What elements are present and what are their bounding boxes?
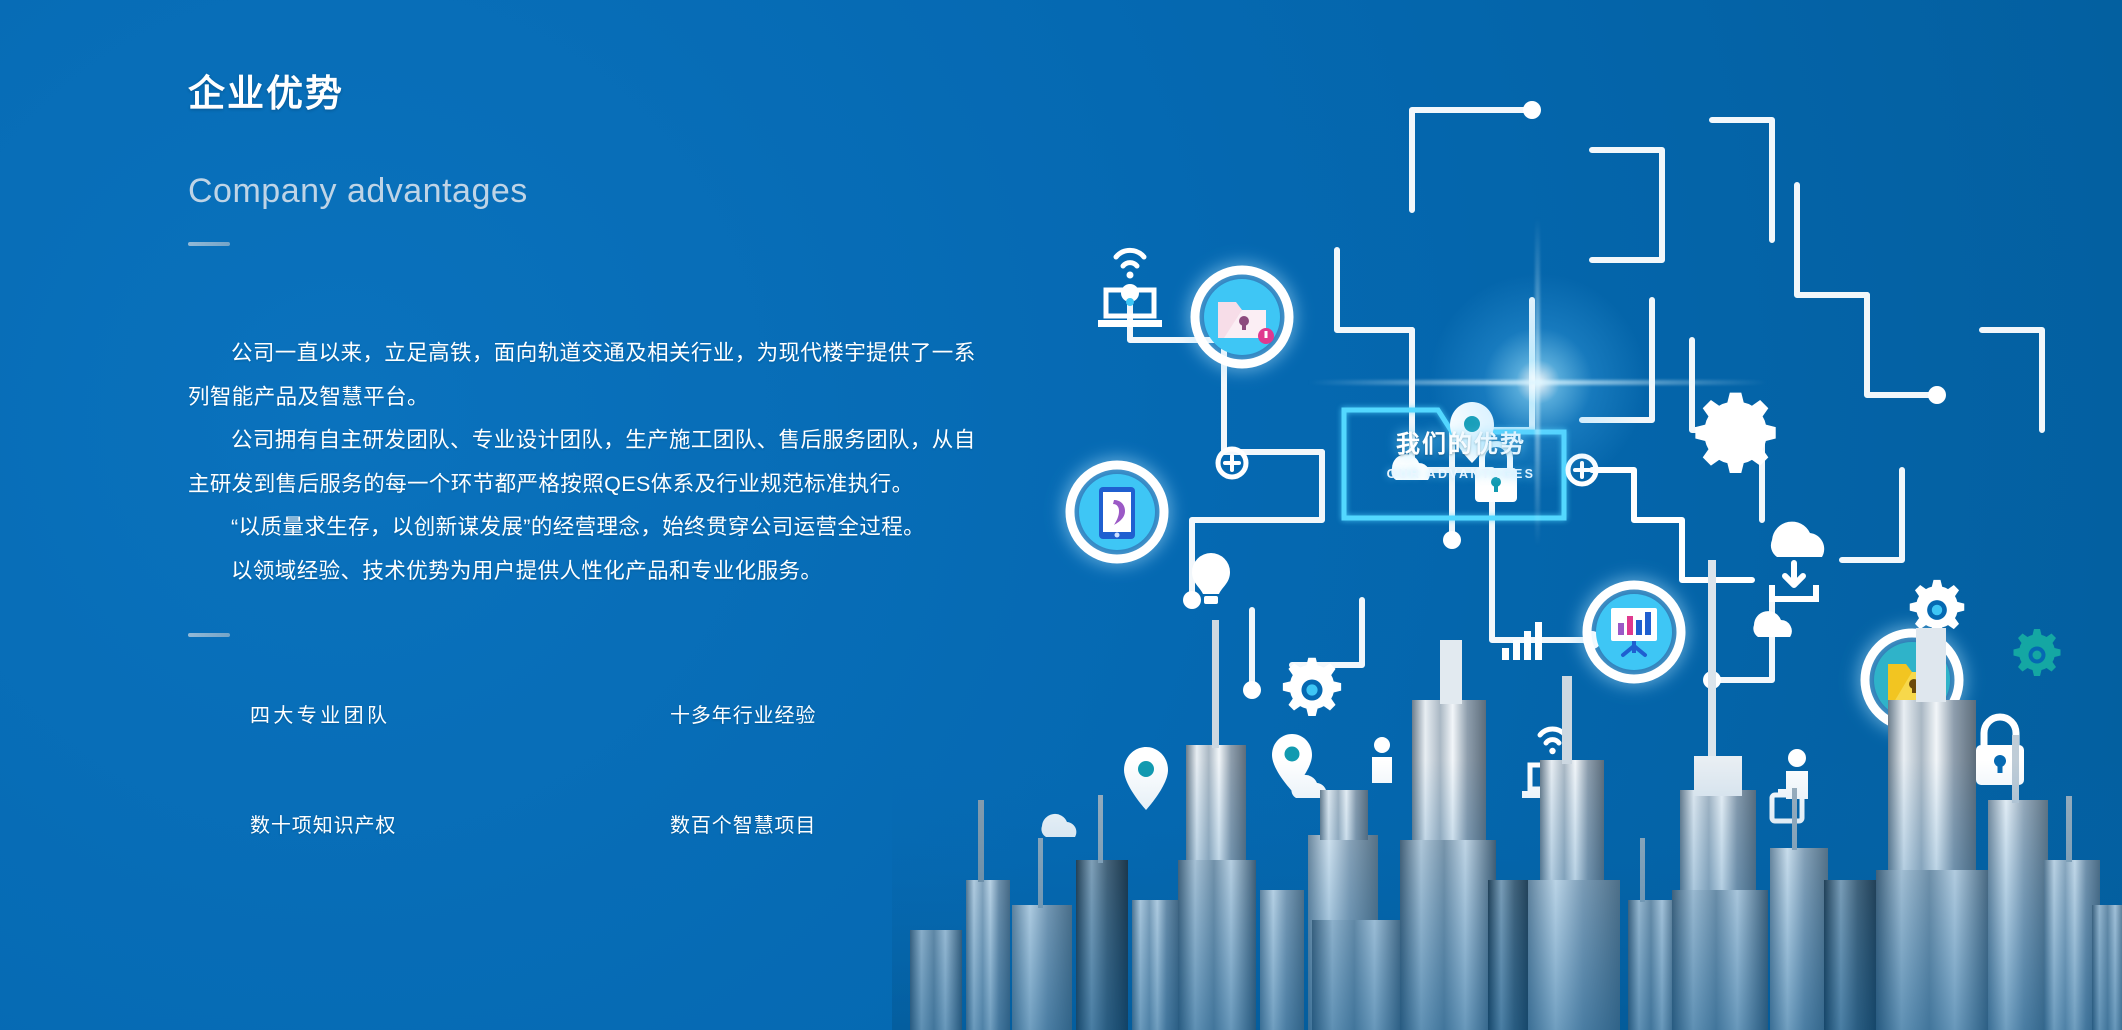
gear-icon — [1910, 580, 1965, 635]
building-skyline — [892, 560, 2122, 1030]
content-column: 企业优势 Company advantages 公司一直以来，立足高铁，面向轨道… — [188, 72, 998, 838]
padlock-icon — [1475, 444, 1517, 502]
slide-canvas: 我们的优势 OUR ADVANTAGES 企业优势 Company advant… — [0, 0, 2122, 1030]
section-title-cn: 企业优势 — [188, 72, 998, 116]
title-divider — [188, 242, 230, 246]
stat-item: 四大专业团队 — [250, 699, 670, 728]
gear-icon — [1283, 658, 1341, 716]
wifi-laptop-icon — [1098, 250, 1162, 327]
paragraph: 公司拥有自主研发团队、专业设计团队，生产施工团队、售后服务团队，从自主研发到售后… — [188, 419, 978, 506]
stat-item: 十多年行业经验 — [670, 699, 1090, 728]
cloud-icon — [1391, 454, 1429, 480]
chart-presentation-icon — [1572, 570, 1696, 694]
stat-item: 数十项知识产权 — [250, 809, 670, 838]
stats-grid: 四大专业团队 十多年行业经验 数十项知识产权 数百个智慧项目 — [250, 699, 998, 838]
card-connector — [1592, 470, 1752, 580]
paragraph: “以质量求生存，以创新谋发展”的经营理念，始终贯穿公司运营全过程。 — [188, 506, 978, 549]
smartphone-call-icon — [1055, 450, 1179, 574]
paragraph: 以领域经验、技术优势为用户提供人性化产品和专业化服务。 — [188, 550, 978, 593]
location-pin-icon — [1450, 402, 1494, 463]
cloud-icon — [1753, 611, 1791, 637]
gear-icon — [2014, 629, 2061, 676]
stat-item: 数百个智慧项目 — [670, 809, 1090, 838]
folder-lock-icon — [1180, 255, 1304, 379]
gear-icon — [1695, 393, 1775, 473]
cloud-download-icon — [1771, 522, 1824, 599]
stats-divider — [188, 633, 230, 637]
advantages-illustration: 我们的优势 OUR ADVANTAGES — [892, 0, 2122, 1030]
section-title-en: Company advantages — [188, 172, 998, 211]
paragraph: 公司一直以来，立足高铁，面向轨道交通及相关行业，为现代楼宇提供了一系列智能产品及… — [188, 332, 978, 419]
body-paragraphs: 公司一直以来，立足高铁，面向轨道交通及相关行业，为现代楼宇提供了一系列智能产品及… — [188, 332, 998, 593]
